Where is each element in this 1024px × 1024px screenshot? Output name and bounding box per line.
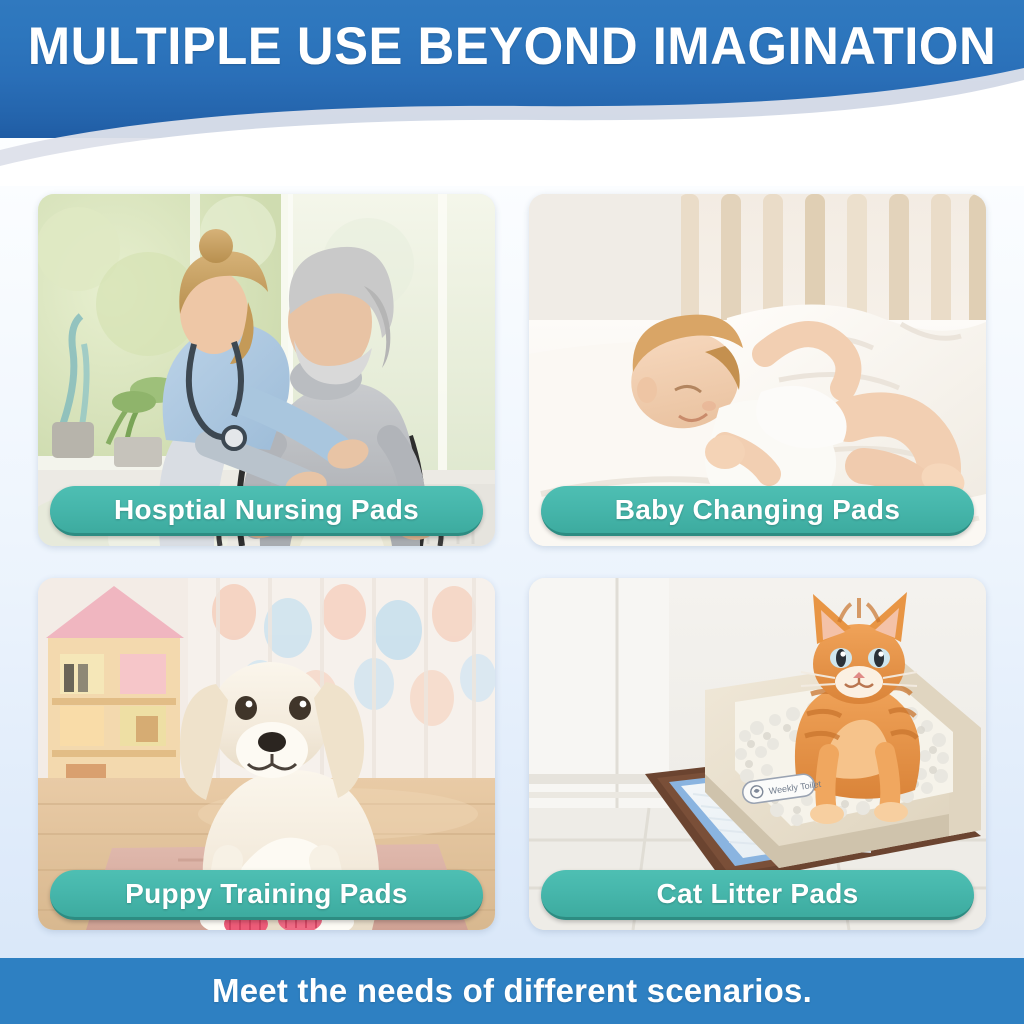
use-case-card-hospital-nursing[interactable]: Hosptial Nursing Pads bbox=[38, 194, 495, 546]
footer-tagline: Meet the needs of different scenarios. bbox=[212, 972, 812, 1010]
card-label-pill-puppy-training: Puppy Training Pads bbox=[50, 870, 483, 920]
card-label-pill-hospital-nursing: Hosptial Nursing Pads bbox=[50, 486, 483, 536]
footer-banner: Meet the needs of different scenarios. bbox=[0, 958, 1024, 1024]
poster-root: MULTIPLE USE BEYOND IMAGINATION bbox=[0, 0, 1024, 1024]
use-case-card-puppy-training[interactable]: Puppy Training Pads bbox=[38, 578, 495, 930]
card-label-text: Cat Litter Pads bbox=[656, 878, 858, 910]
use-case-card-cat-litter[interactable]: Weekly Toilet Cat Litter Pads bbox=[529, 578, 986, 930]
card-label-pill-cat-litter: Cat Litter Pads bbox=[541, 870, 974, 920]
use-case-grid: Hosptial Nursing Pads bbox=[38, 194, 986, 930]
card-label-text: Puppy Training Pads bbox=[125, 878, 408, 910]
page-title: MULTIPLE USE BEYOND IMAGINATION bbox=[20, 17, 1003, 77]
card-label-text: Hosptial Nursing Pads bbox=[114, 494, 419, 526]
card-label-pill-baby-changing: Baby Changing Pads bbox=[541, 486, 974, 536]
use-case-card-baby-changing[interactable]: Baby Changing Pads bbox=[529, 194, 986, 546]
header-banner: MULTIPLE USE BEYOND IMAGINATION bbox=[0, 0, 1024, 186]
card-label-text: Baby Changing Pads bbox=[615, 494, 900, 526]
